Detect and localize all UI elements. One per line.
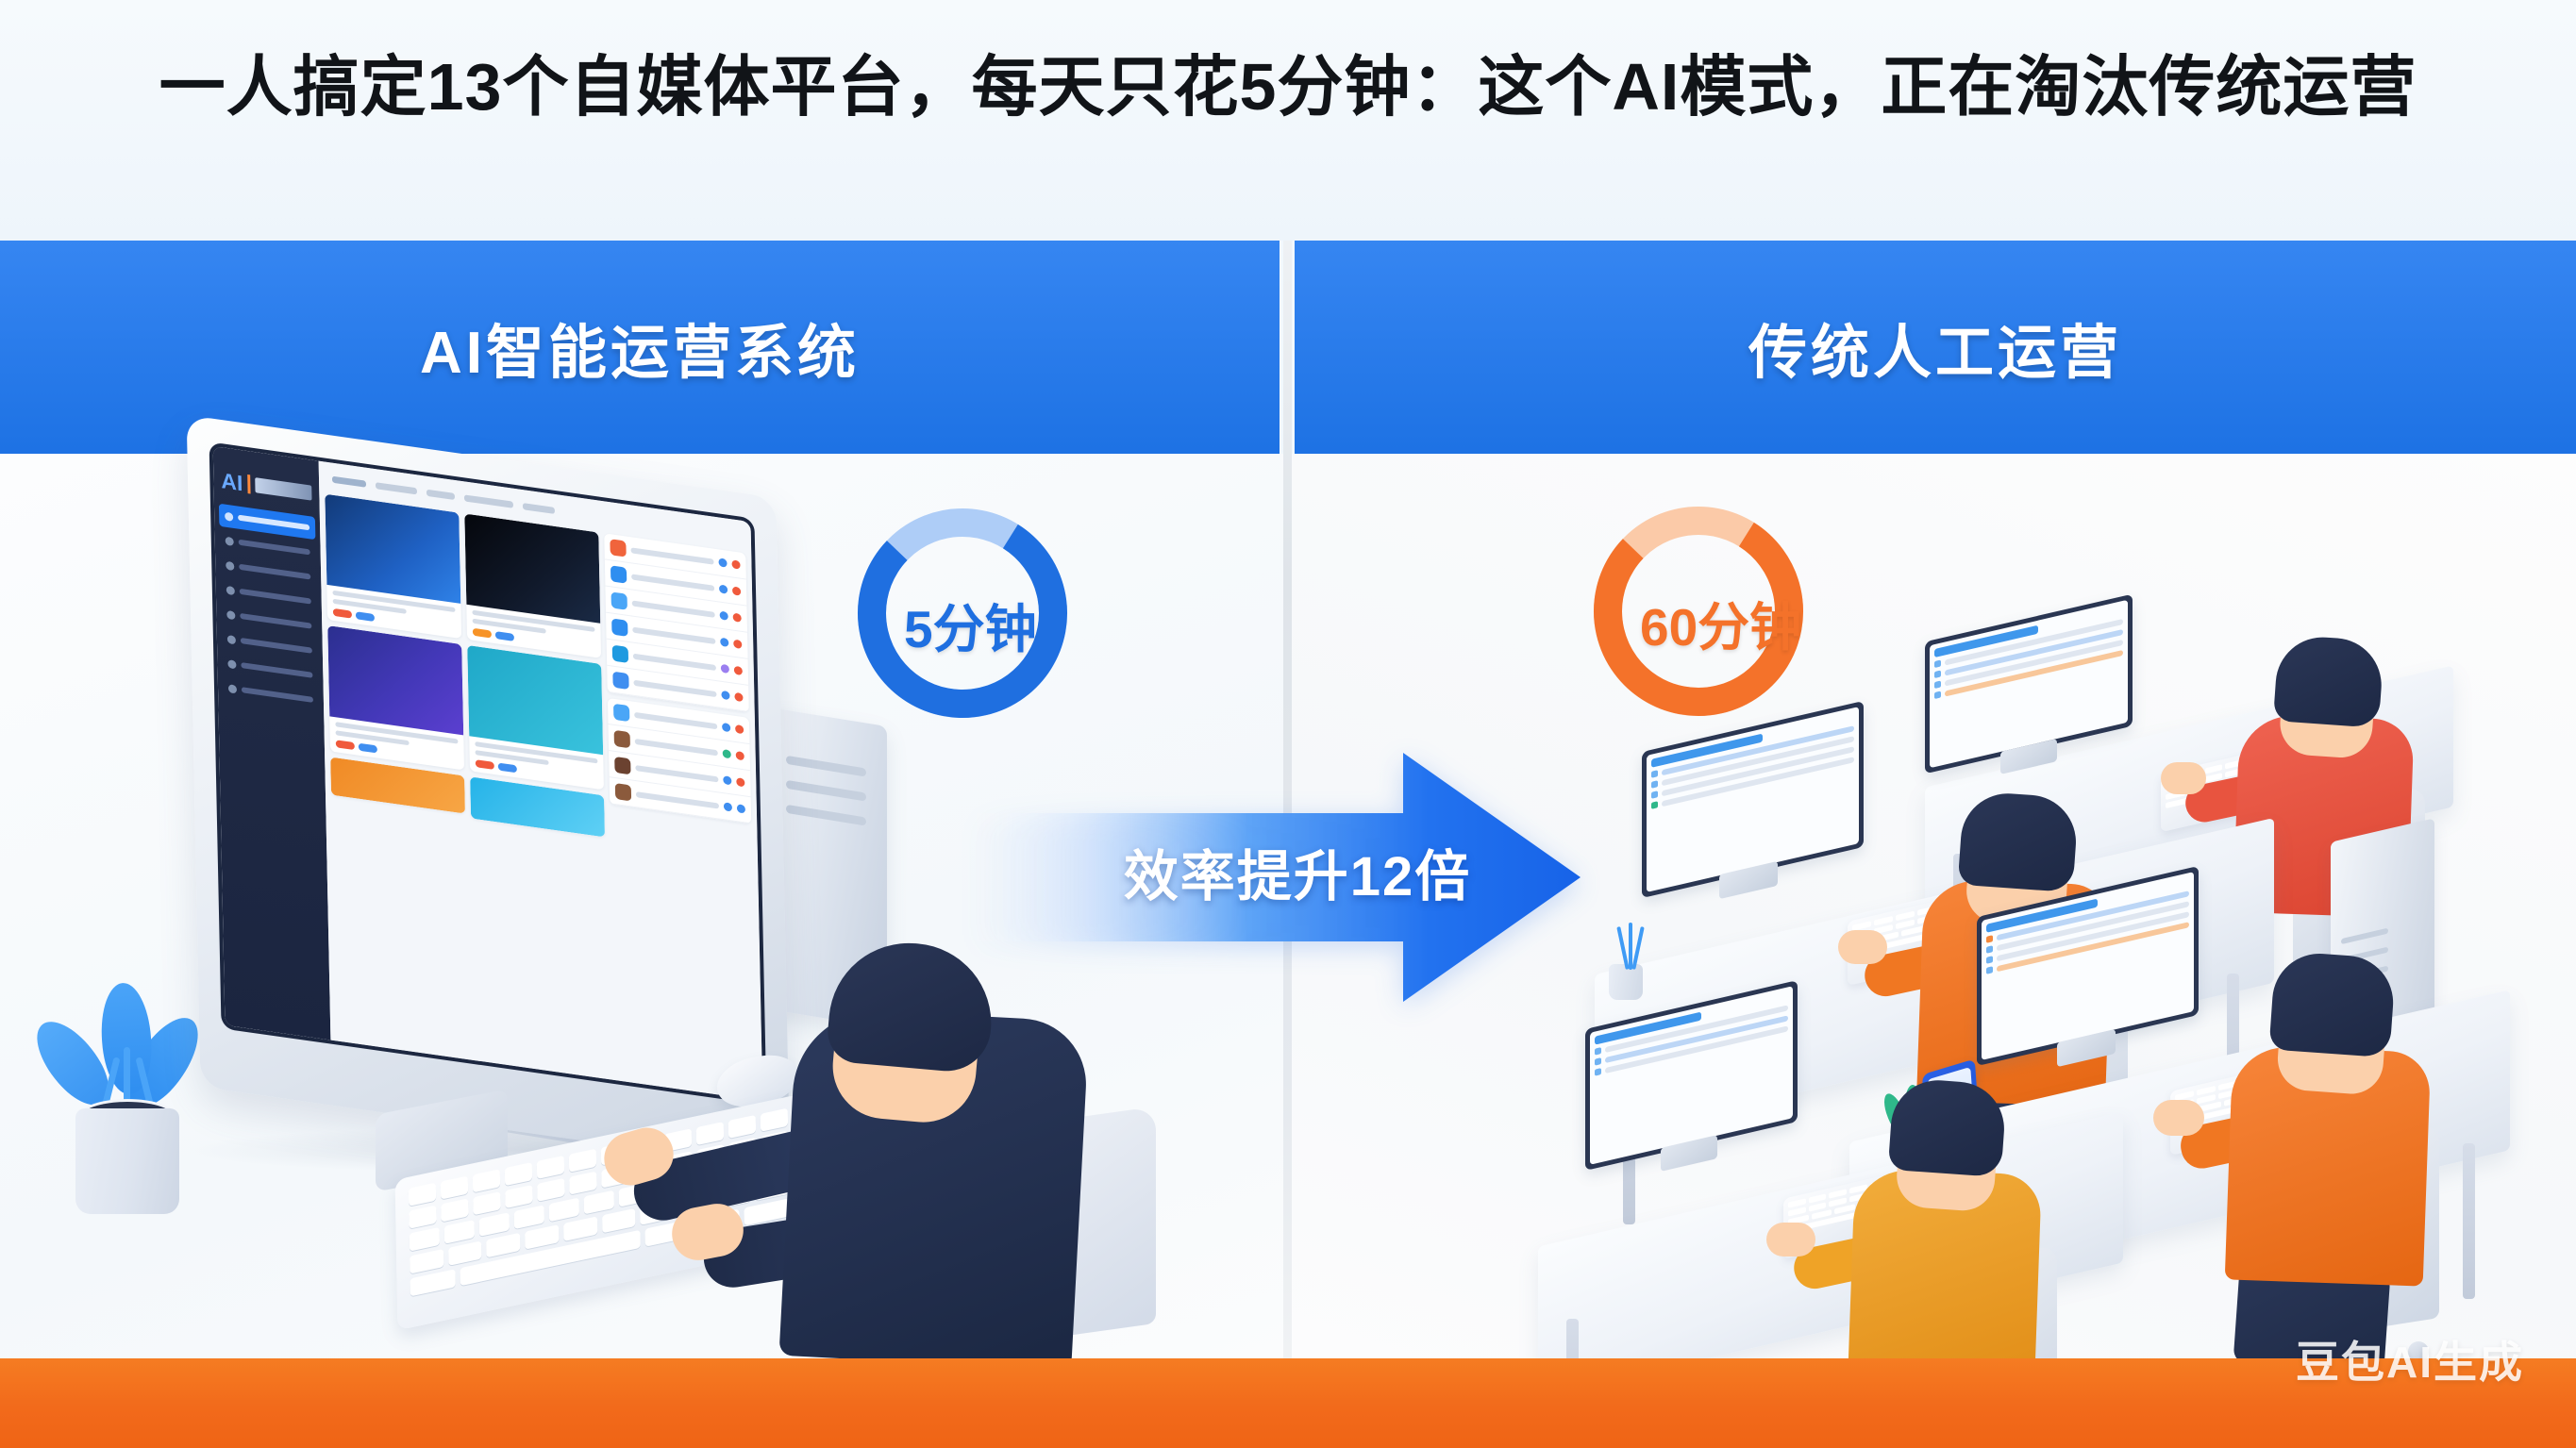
platform-icon xyxy=(614,757,630,774)
right-time-badge: 60分钟 xyxy=(1585,498,1812,724)
nav-label xyxy=(240,613,311,629)
platform-icon xyxy=(612,645,628,663)
worker-hand xyxy=(2161,762,2206,794)
nav-label xyxy=(240,589,311,605)
plant-stem xyxy=(1629,923,1632,970)
nav-label xyxy=(238,515,309,531)
worker-hand xyxy=(1766,1223,1815,1257)
infographic-canvas: 一人搞定13个自媒体平台，每天只花5分钟：这个AI模式，正在淘汰传统运营 AI智… xyxy=(0,0,2576,1448)
platform-icon xyxy=(611,591,627,609)
platform-list-card xyxy=(608,698,751,824)
content-card[interactable] xyxy=(464,513,601,657)
left-panel-header-label: AI智能运营系统 xyxy=(420,305,860,390)
nav-label xyxy=(239,540,310,556)
dashboard-list-column xyxy=(604,533,757,1094)
nav-dot-icon xyxy=(226,609,235,619)
platform-list-card xyxy=(604,533,748,712)
worker-hair xyxy=(2268,951,2396,1058)
worker-hand xyxy=(2153,1100,2204,1136)
logo-divider-icon xyxy=(247,474,250,493)
nav-dot-icon xyxy=(227,635,236,644)
platform-icon xyxy=(611,565,627,583)
tab[interactable] xyxy=(427,489,455,499)
nav-label xyxy=(242,687,313,703)
plant-pot xyxy=(75,1108,179,1214)
efficiency-arrow-label: 效率提升12倍 xyxy=(1099,832,1496,911)
dashboard-main xyxy=(319,461,763,1102)
watermark-label: 豆包AI生成 xyxy=(2296,1328,2524,1390)
tab[interactable] xyxy=(332,475,366,487)
tab[interactable] xyxy=(523,503,555,514)
nav-label xyxy=(241,638,312,654)
dashboard-screen: AI xyxy=(213,446,763,1101)
platform-icon xyxy=(612,672,628,690)
right-panel-header: 传统人工运营 xyxy=(1295,241,2576,454)
nav-dot-icon xyxy=(227,659,236,669)
dashboard-columns xyxy=(325,494,757,1095)
left-panel-header: AI智能运营系统 xyxy=(0,241,1280,454)
nav-label xyxy=(239,564,310,580)
right-time-badge-label: 60分钟 xyxy=(1640,585,1876,660)
left-time-badge-label: 5分钟 xyxy=(904,587,1140,662)
logo-wordmark xyxy=(255,477,311,501)
desk-leg xyxy=(2463,1143,2475,1299)
bottom-accent-bar xyxy=(0,1358,2576,1448)
tab[interactable] xyxy=(464,494,513,508)
platform-icon xyxy=(613,704,629,722)
platform-icon xyxy=(610,539,626,557)
platform-icon xyxy=(615,783,631,801)
platform-icon xyxy=(614,730,630,748)
nav-dot-icon xyxy=(226,560,234,570)
left-time-badge: 5分钟 xyxy=(849,500,1076,726)
nav-label xyxy=(241,662,312,678)
worker-hand xyxy=(1838,930,1887,964)
content-card[interactable] xyxy=(467,645,604,790)
page-title: 一人搞定13个自媒体平台，每天只花5分钟：这个AI模式，正在淘汰传统运营 xyxy=(0,28,2576,146)
platform-icon xyxy=(611,618,627,636)
nav-dot-icon xyxy=(225,511,233,521)
right-panel-header-label: 传统人工运营 xyxy=(1748,305,2122,390)
nav-dot-icon xyxy=(226,536,234,545)
dashboard-column xyxy=(464,513,610,1074)
efficiency-arrow: 效率提升12倍 xyxy=(977,745,1581,1009)
dashboard-sidebar: AI xyxy=(213,446,331,1040)
content-card[interactable] xyxy=(325,494,461,639)
content-card[interactable] xyxy=(327,625,464,770)
tab[interactable] xyxy=(376,482,417,494)
dashboard-logo-text: AI xyxy=(221,470,243,494)
nav-dot-icon xyxy=(228,684,237,693)
dashboard-column xyxy=(325,494,470,1055)
title-band: 一人搞定13个自媒体平台，每天只花5分钟：这个AI模式，正在淘汰传统运营 xyxy=(0,0,2576,241)
monitor-bezel: AI xyxy=(209,441,767,1105)
nav-dot-icon xyxy=(226,585,235,594)
